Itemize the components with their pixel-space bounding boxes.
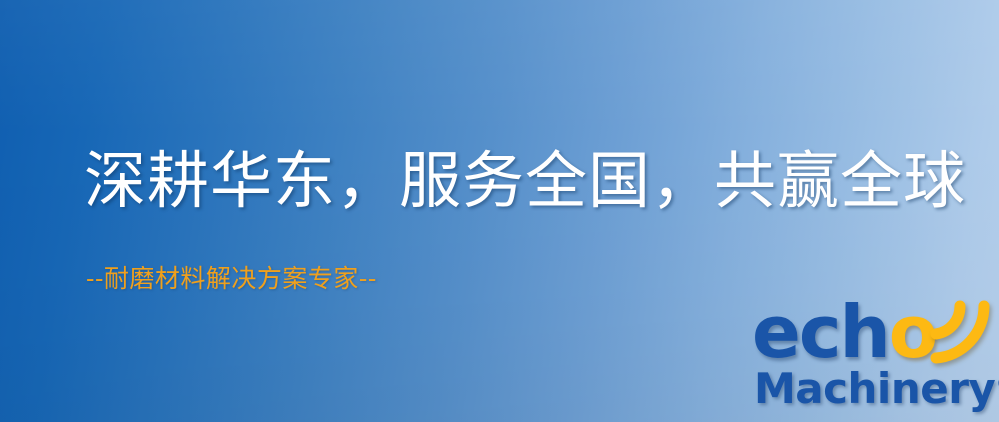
registered-trademark-icon: ® <box>995 372 999 397</box>
logo-brandline: Machinery® <box>754 368 999 410</box>
signal-wave-icon <box>922 292 999 372</box>
banner-subtitle: --耐磨材料解决方案专家-- <box>86 266 377 291</box>
hero-banner: 深耕华东，服务全国，共赢全球 --耐磨材料解决方案专家-- echo Machi… <box>0 0 999 422</box>
echo-machinery-logo: echo Machinery® <box>744 296 999 422</box>
logo-brandline-text: Machinery <box>754 364 995 413</box>
logo-wordmark-prefix: ech <box>752 290 889 374</box>
logo-wordmark: echo <box>752 296 936 368</box>
banner-headline: 深耕华东，服务全国，共赢全球 <box>84 150 966 212</box>
